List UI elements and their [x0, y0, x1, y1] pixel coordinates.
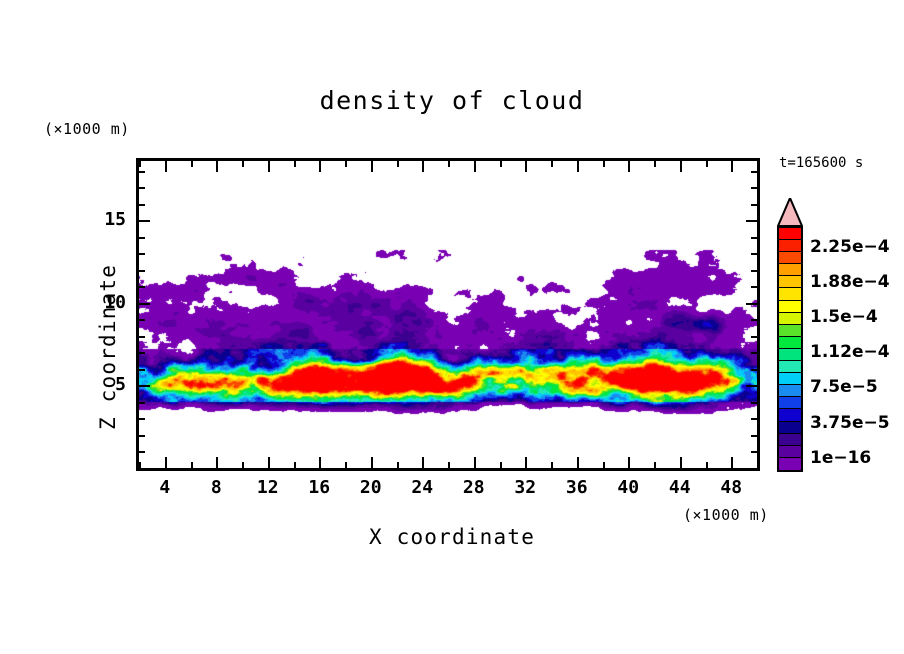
- timestamp-label: t=165600 s: [779, 155, 863, 171]
- x-tick-label: 24: [402, 477, 442, 498]
- x-tick-label: 36: [557, 477, 597, 498]
- chart-title: density of cloud: [0, 86, 904, 115]
- colorbar-band: [779, 361, 801, 373]
- colorbar-band: [779, 409, 801, 421]
- colorbar-band: [779, 240, 801, 252]
- colorbar-band: [779, 397, 801, 409]
- colorbar-band: [779, 446, 801, 458]
- colorbar-band: [779, 385, 801, 397]
- y-axis-unit-label: (×1000 m): [44, 120, 130, 138]
- x-tick-label: 32: [505, 477, 545, 498]
- x-tick-label: 12: [248, 477, 288, 498]
- colorbar-band: [779, 313, 801, 325]
- colorbar-band: [779, 337, 801, 349]
- colorbar-band: [779, 422, 801, 434]
- x-tick-label: 28: [454, 477, 494, 498]
- colorbar-band: [779, 288, 801, 300]
- colorbar-tick-label: 7.5e−5: [810, 377, 878, 397]
- x-axis-unit-label: (×1000 m): [683, 506, 769, 524]
- x-tick-label: 48: [711, 477, 751, 498]
- colorbar-band: [779, 301, 801, 313]
- x-tick-label: 4: [145, 477, 185, 498]
- colorbar-band: [779, 349, 801, 361]
- colorbar-tick-label: 3.75e−5: [810, 413, 890, 433]
- colorbar-band: [779, 264, 801, 276]
- colorbar-tick-label: 1.12e−4: [810, 342, 890, 362]
- colorbar-band: [779, 373, 801, 385]
- colorbar-band: [779, 276, 801, 288]
- colorbar-band: [779, 434, 801, 446]
- x-tick-label: 40: [608, 477, 648, 498]
- colorbar-band: [779, 252, 801, 264]
- colorbar-tick-label: 2.25e−4: [810, 237, 890, 257]
- plot-frame: [136, 158, 760, 471]
- colorbar-tick-label: 1e−16: [810, 448, 871, 468]
- y-axis-title: Z coordinate: [96, 264, 120, 430]
- colorbar-band: [779, 228, 801, 240]
- colorbar-band: [779, 325, 801, 337]
- x-tick-label: 44: [660, 477, 700, 498]
- x-tick-label: 20: [351, 477, 391, 498]
- colorbar: [777, 226, 803, 472]
- x-tick-label: 16: [299, 477, 339, 498]
- figure-canvas: density of cloud (×1000 m) t=165600 s 48…: [0, 0, 904, 654]
- y-tick-label: 15: [84, 209, 126, 230]
- colorbar-tick-label: 1.88e−4: [810, 272, 890, 292]
- colorbar-tick-label: 1.5e−4: [810, 307, 878, 327]
- x-axis-title: X coordinate: [0, 525, 904, 549]
- colorbar-over-arrow: [777, 198, 803, 226]
- x-tick-label: 8: [196, 477, 236, 498]
- colorbar-band: [779, 458, 801, 470]
